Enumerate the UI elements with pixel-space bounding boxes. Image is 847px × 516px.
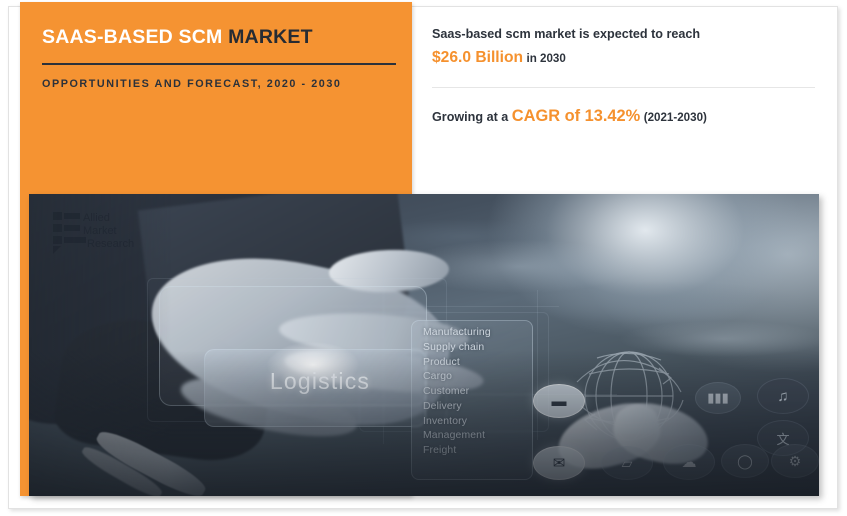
page-title: SAAS-BASED SCM MARKET xyxy=(42,24,392,50)
stat-cagr-value: CAGR of 13.42% xyxy=(512,107,640,125)
stat-market-size: Saas-based scm market is expected to rea… xyxy=(432,24,822,70)
page-title-primary: SAAS-BASED SCM xyxy=(42,26,222,48)
title-block: SAAS-BASED SCM MARKET OPPORTUNITIES AND … xyxy=(42,24,392,94)
page-root: SAAS-BASED SCM MARKET OPPORTUNITIES AND … xyxy=(0,0,847,516)
stat-cagr: Growing at a CAGR of 13.42% (2021-2030) xyxy=(432,107,822,126)
title-divider xyxy=(42,63,396,65)
hero-image: Logistics Manufacturing Supply chain Pro… xyxy=(29,194,819,496)
stat-market-size-suffix: in 2030 xyxy=(527,52,566,65)
stat-cagr-suffix: (2021-2030) xyxy=(644,111,707,124)
image-vignette xyxy=(29,194,819,496)
stat-cagr-prefix: Growing at a xyxy=(432,110,508,124)
stat-market-size-prefix: Saas-based scm market is expected to rea… xyxy=(432,27,700,41)
stat-market-size-value: $26.0 Billion xyxy=(432,49,523,66)
stats-panel: Saas-based scm market is expected to rea… xyxy=(432,24,822,126)
hero-subtitle: OPPORTUNITIES AND FORECAST, 2020 - 2030 xyxy=(42,76,414,94)
stats-divider xyxy=(432,87,815,88)
page-title-secondary: MARKET xyxy=(228,26,313,48)
